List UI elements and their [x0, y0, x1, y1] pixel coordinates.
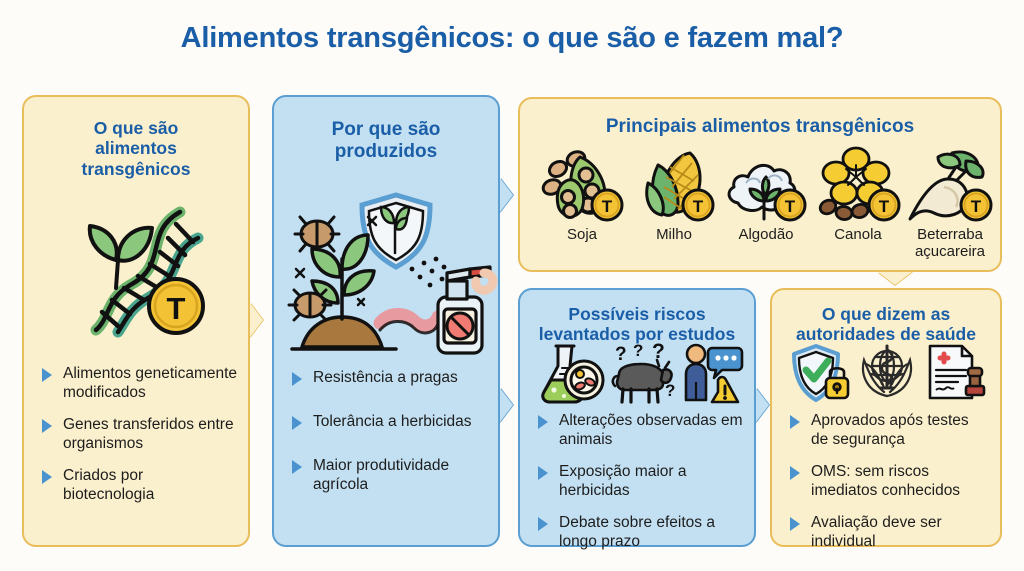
list-item-label: Debate sobre efeitos a longo prazo	[559, 514, 715, 550]
bullet-arrow-icon	[292, 416, 302, 430]
list-item-label: Alimentos geneticamente modificados	[63, 365, 237, 401]
heading-line-1: O que dizem as	[772, 304, 1000, 324]
list-item: Aprovados após testes de segurança	[790, 412, 990, 450]
authorities-icons-row	[788, 342, 988, 404]
bullet-arrow-icon	[538, 517, 548, 531]
connector-arrow-foods-to-authorities	[878, 272, 912, 285]
list-item-label: Maior produtividade agrícola	[313, 457, 449, 493]
panel-why-produced: Por que são produzidos	[272, 95, 500, 547]
bullet-arrow-icon	[42, 368, 52, 382]
crop-label: Canola	[812, 226, 904, 243]
list-item-label: Exposição maior a herbicidas	[559, 463, 687, 499]
panel-what-are-heading: O que são alimentos transgênicos	[24, 118, 248, 179]
bullet-arrow-icon	[538, 466, 548, 480]
panel-possible-risks: Possíveis riscos levantados por estudos	[518, 288, 756, 547]
bullet-arrow-icon	[292, 372, 302, 386]
svg-text:T: T	[785, 197, 796, 216]
heading-line-1: Possíveis riscos	[520, 304, 754, 324]
heading-line-2: produzidos	[274, 141, 498, 163]
list-item: Maior produtividade agrícola	[292, 457, 492, 495]
panel-risks-bullets: Alterações observadas em animais Exposiç…	[538, 412, 744, 564]
crop-label: Beterraba açucareira	[904, 226, 996, 261]
panel-main-gmo-foods: Principais alimentos transgênicos	[518, 97, 1002, 272]
connector-arrow-panel2-to-panel3	[500, 178, 513, 212]
list-item: OMS: sem riscos imediatos conhecidos	[790, 463, 990, 501]
heading-line-3: transgênicos	[24, 159, 248, 179]
svg-text:T: T	[167, 291, 186, 326]
crop-label: Soja	[536, 226, 628, 243]
list-item: Tolerância a herbicidas	[292, 413, 492, 432]
panel-what-are-gmo: O que são alimentos transgênicos	[22, 95, 250, 547]
dna-plant-illustration: T	[72, 202, 212, 337]
list-item-label: Avaliação deve ser individual	[811, 514, 942, 550]
svg-text:T: T	[971, 197, 982, 216]
person-warning-icon	[680, 342, 742, 404]
page-title: Alimentos transgênicos: o que são e faze…	[0, 22, 1024, 55]
soybean-pod-icon: T	[536, 147, 628, 225]
shield-check-lock-icon	[790, 342, 852, 404]
spray-bottle-icon	[438, 267, 493, 353]
shield-icon	[362, 195, 430, 267]
bullet-arrow-icon	[42, 470, 52, 484]
crop-item: T Algodão	[720, 147, 812, 261]
cotton-boll-icon: T	[720, 147, 812, 225]
bullet-arrow-icon	[790, 466, 800, 480]
bullet-arrow-icon	[292, 460, 302, 474]
svg-text:?: ?	[633, 341, 643, 360]
heading-line-2: alimentos	[24, 138, 248, 158]
infographic-canvas: Alimentos transgênicos: o que são e faze…	[0, 0, 1024, 571]
panel-authorities-bullets: Aprovados após testes de segurança OMS: …	[790, 412, 990, 564]
beetle-icon	[295, 217, 339, 251]
crop-item: T Milho	[628, 147, 720, 261]
who-emblem-icon	[856, 342, 918, 404]
risks-icons-row: ? ? ? ?	[536, 342, 744, 404]
crop-item: T Soja	[536, 147, 628, 261]
connector-arrow-panel2-to-risks	[500, 388, 513, 422]
list-item: Resistência a pragas	[292, 369, 492, 388]
crops-row: T Soja	[536, 147, 988, 261]
panel-risks-heading: Possíveis riscos levantados por estudos	[520, 304, 754, 345]
panel-why-produced-bullets: Resistência a pragas Tolerância a herbic…	[292, 369, 492, 520]
worm-icon	[380, 315, 438, 333]
corn-cob-icon: T	[628, 147, 720, 225]
heading-line-1: O que são	[24, 118, 248, 138]
svg-text:T: T	[602, 197, 613, 216]
svg-text:T: T	[693, 197, 704, 216]
list-item-label: Resistência a pragas	[313, 369, 458, 386]
list-item: Criados por biotecnologia	[42, 467, 238, 505]
bullet-arrow-icon	[42, 419, 52, 433]
panel-authorities-heading: O que dizem as autoridades de saúde	[772, 304, 1000, 345]
svg-text:?: ?	[652, 340, 665, 363]
flask-petri-dish-icon	[538, 342, 604, 404]
bullet-arrow-icon	[790, 517, 800, 531]
list-item-label: Genes transferidos entre organismos	[63, 416, 234, 452]
panel-health-authorities: O que dizem as autoridades de saúde	[770, 288, 1002, 547]
list-item-label: Aprovados após testes de segurança	[811, 412, 969, 448]
svg-text:T: T	[879, 197, 890, 216]
cow-question-marks-icon: ? ? ? ?	[607, 342, 677, 404]
panel-what-are-bullets: Alimentos geneticamente modificados Gene…	[42, 365, 238, 517]
list-item-label: OMS: sem riscos imediatos conhecidos	[811, 463, 960, 499]
list-item: Genes transferidos entre organismos	[42, 416, 238, 454]
list-item-label: Criados por biotecnologia	[63, 467, 154, 503]
bullet-arrow-icon	[538, 415, 548, 429]
list-item: Exposição maior a herbicidas	[538, 463, 744, 501]
crop-item: T Beterraba açucareira	[904, 147, 996, 261]
list-item: Alterações observadas em animais	[538, 412, 744, 450]
list-item-label: Tolerância a herbicidas	[313, 413, 472, 430]
svg-text:?: ?	[615, 344, 627, 365]
sugar-beet-icon: T	[904, 147, 996, 225]
panel-main-foods-heading: Principais alimentos transgênicos	[520, 116, 1000, 138]
heading-line-1: Por que são	[274, 119, 498, 141]
crop-label: Milho	[628, 226, 720, 243]
bullet-arrow-icon	[790, 415, 800, 429]
crop-item: T Canola	[812, 147, 904, 261]
list-item-label: Alterações observadas em animais	[559, 412, 743, 448]
connector-arrow-risks-to-authorities	[756, 388, 769, 422]
connector-arrow-panel1-to-panel2	[250, 303, 263, 337]
list-item: Alimentos geneticamente modificados	[42, 365, 238, 403]
list-item: Avaliação deve ser individual	[790, 514, 990, 552]
canola-flower-icon: T	[812, 147, 904, 225]
stamped-document-icon	[922, 342, 986, 404]
shield-plant-sprayer-illustration	[284, 177, 496, 357]
list-item: Debate sobre efeitos a longo prazo	[538, 514, 744, 552]
crop-label: Algodão	[720, 226, 812, 243]
panel-why-produced-heading: Por que são produzidos	[274, 119, 498, 163]
